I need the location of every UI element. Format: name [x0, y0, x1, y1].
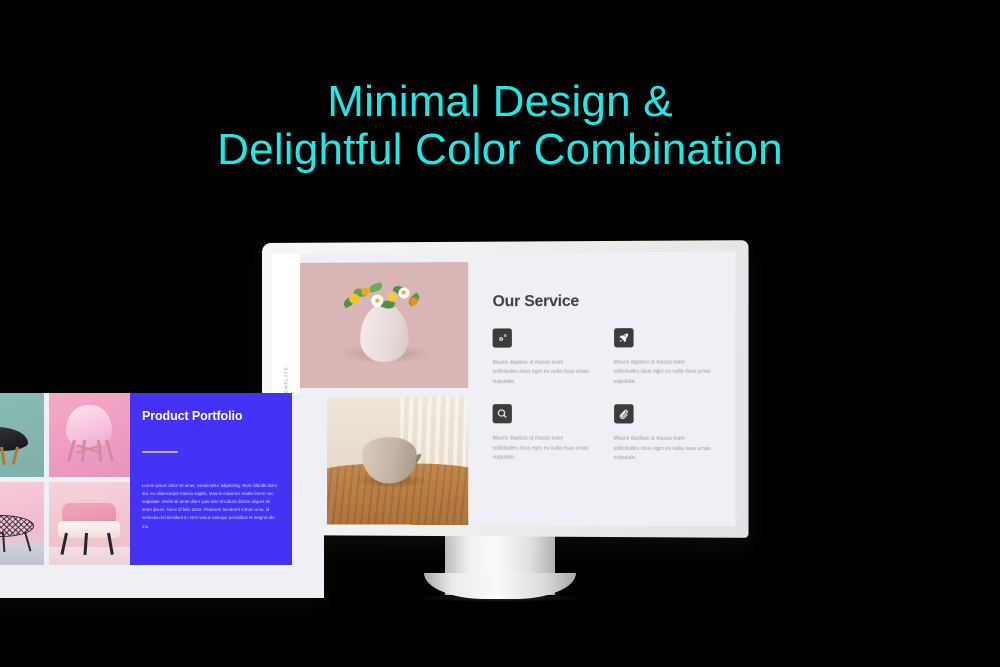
paperclip-icon[interactable]	[614, 404, 634, 423]
monitor-stand-foot	[424, 573, 576, 599]
service-item-rocket: Mauris dapibus ut massa loare sollicitud…	[614, 328, 722, 387]
portfolio-title: Product Portfolio	[142, 409, 278, 423]
bouquet	[341, 281, 428, 315]
product-portfolio-slide: Product Portfolio Lorem ipsum dolor sit …	[0, 393, 324, 598]
portfolio-divider	[142, 451, 178, 453]
black-chair-photo	[0, 393, 44, 477]
pink-armchair-photo	[49, 482, 131, 566]
slide-content-pane: Our Service Mauris dapibus ut massa loar…	[478, 252, 735, 527]
rocket-icon[interactable]	[614, 328, 634, 347]
portfolio-body-text: Lorem ipsum dolor sit amet, consectetur …	[142, 482, 278, 531]
pink-chair-photo	[49, 393, 131, 477]
wire-seat	[0, 515, 34, 537]
service-grid: Mauris dapibus ut massa loare sollicitud…	[493, 328, 722, 464]
flowers-in-vase-photo	[300, 262, 468, 388]
portfolio-photo-grid	[0, 393, 130, 565]
service-item-text: Mauris dapibus ut massa loare sollicitud…	[614, 358, 712, 387]
service-item-search: Mauris dapibus ut massa loare sollicitud…	[493, 404, 600, 463]
portfolio-slide-content: Product Portfolio Lorem ipsum dolor sit …	[0, 393, 292, 565]
search-icon[interactable]	[493, 404, 512, 423]
service-item-text: Mauris dapibus ut massa loare sollicitud…	[493, 435, 590, 464]
succulent-plant-photo	[327, 397, 468, 525]
chair-shell	[0, 427, 28, 451]
monitor-screen: Mild Template	[272, 252, 736, 527]
portfolio-text-panel: Product Portfolio Lorem ipsum dolor sit …	[130, 393, 292, 565]
service-item-paperclip: Mauris dapibus ut massa loare sollicitud…	[614, 404, 722, 463]
service-item-text: Mauris dapibus ut massa loare sollicitud…	[614, 435, 712, 464]
service-item-text: Mauris dapibus ut massa loare sollicitud…	[493, 359, 590, 388]
service-section-title: Our Service	[493, 292, 722, 311]
presentation-mockup-scene: Minimal Design & Delightful Color Combin…	[0, 0, 1000, 667]
floor	[0, 543, 44, 565]
page-headline: Minimal Design & Delightful Color Combin…	[0, 78, 1000, 174]
wire-chair-photo	[0, 482, 44, 566]
service-item-gears: Mauris dapibus ut massa loare sollicitud…	[493, 328, 600, 387]
gears-icon[interactable]	[493, 328, 512, 347]
desktop-monitor: Mild Template	[262, 243, 740, 535]
